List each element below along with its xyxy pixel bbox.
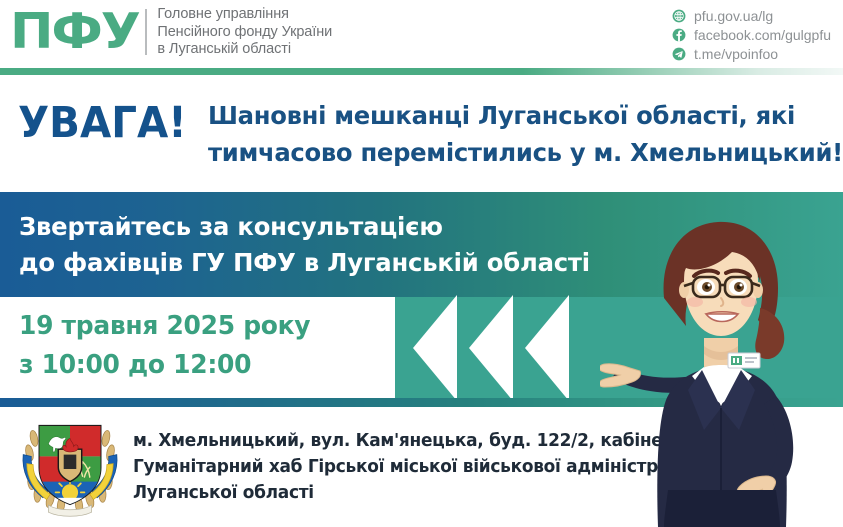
poster-canvas: ПФУ Головне управління Пенсійного фонду … xyxy=(0,0,843,527)
telegram-text: t.me/vpoinfoo xyxy=(694,47,778,62)
chevron-left-icon-1 xyxy=(413,295,457,401)
org-line-1: Головне управління xyxy=(157,6,332,24)
website-text: pfu.gov.ua/lg xyxy=(694,9,773,24)
schedule-time: з 10:00 до 12:00 xyxy=(19,346,310,385)
attention-message: Шановні мешканці Луганської області, які… xyxy=(208,97,838,171)
org-line-3: в Луганській області xyxy=(157,41,332,59)
logo-divider xyxy=(145,9,147,55)
consultation-line-1: Звертайтесь за консультацією xyxy=(19,209,590,245)
contact-telegram[interactable]: t.me/vpoinfoo xyxy=(672,45,831,63)
consultation-text: Звертайтесь за консультацією до фахівців… xyxy=(19,209,608,281)
chevron-left-icon-3 xyxy=(525,295,569,401)
page-header: ПФУ Головне управління Пенсійного фонду … xyxy=(0,0,843,72)
contact-facebook[interactable]: facebook.com/gulgpfu xyxy=(672,26,831,44)
chevron-left-icon-2 xyxy=(469,295,513,401)
attention-word: УВАГА! xyxy=(18,100,187,146)
luhansk-coat-of-arms-icon xyxy=(16,415,124,523)
contact-website[interactable]: pfu.gov.ua/lg xyxy=(672,7,831,25)
organization-name: Головне управління Пенсійного фонду Укра… xyxy=(157,6,332,59)
pfu-logo: ПФУ Головне управління Пенсійного фонду … xyxy=(10,6,332,59)
org-line-2: Пенсійного фонду України xyxy=(157,24,332,42)
facebook-icon xyxy=(672,28,686,42)
header-divider-bar xyxy=(0,68,843,75)
consultation-line-2: до фахівців ГУ ПФУ в Луганській області xyxy=(19,245,590,281)
schedule-text: 19 травня 2025 року з 10:00 до 12:00 xyxy=(19,307,322,385)
globe-icon xyxy=(672,9,686,23)
female-consultant-illustration xyxy=(600,190,843,527)
facebook-text: facebook.com/gulgpfu xyxy=(694,28,831,43)
contact-list: pfu.gov.ua/lg facebook.com/gulgpfu t.me/… xyxy=(672,7,831,64)
attention-block: УВАГА! Шановні мешканці Луганської облас… xyxy=(0,78,843,184)
attention-line-1: Шановні мешканці Луганської області, які xyxy=(208,97,819,134)
pfu-logo-text: ПФУ xyxy=(10,6,139,58)
schedule-date: 19 травня 2025 року xyxy=(19,307,310,346)
attention-line-2: тимчасово перемістились у м. Хмельницьки… xyxy=(208,134,819,171)
telegram-icon xyxy=(672,47,686,61)
